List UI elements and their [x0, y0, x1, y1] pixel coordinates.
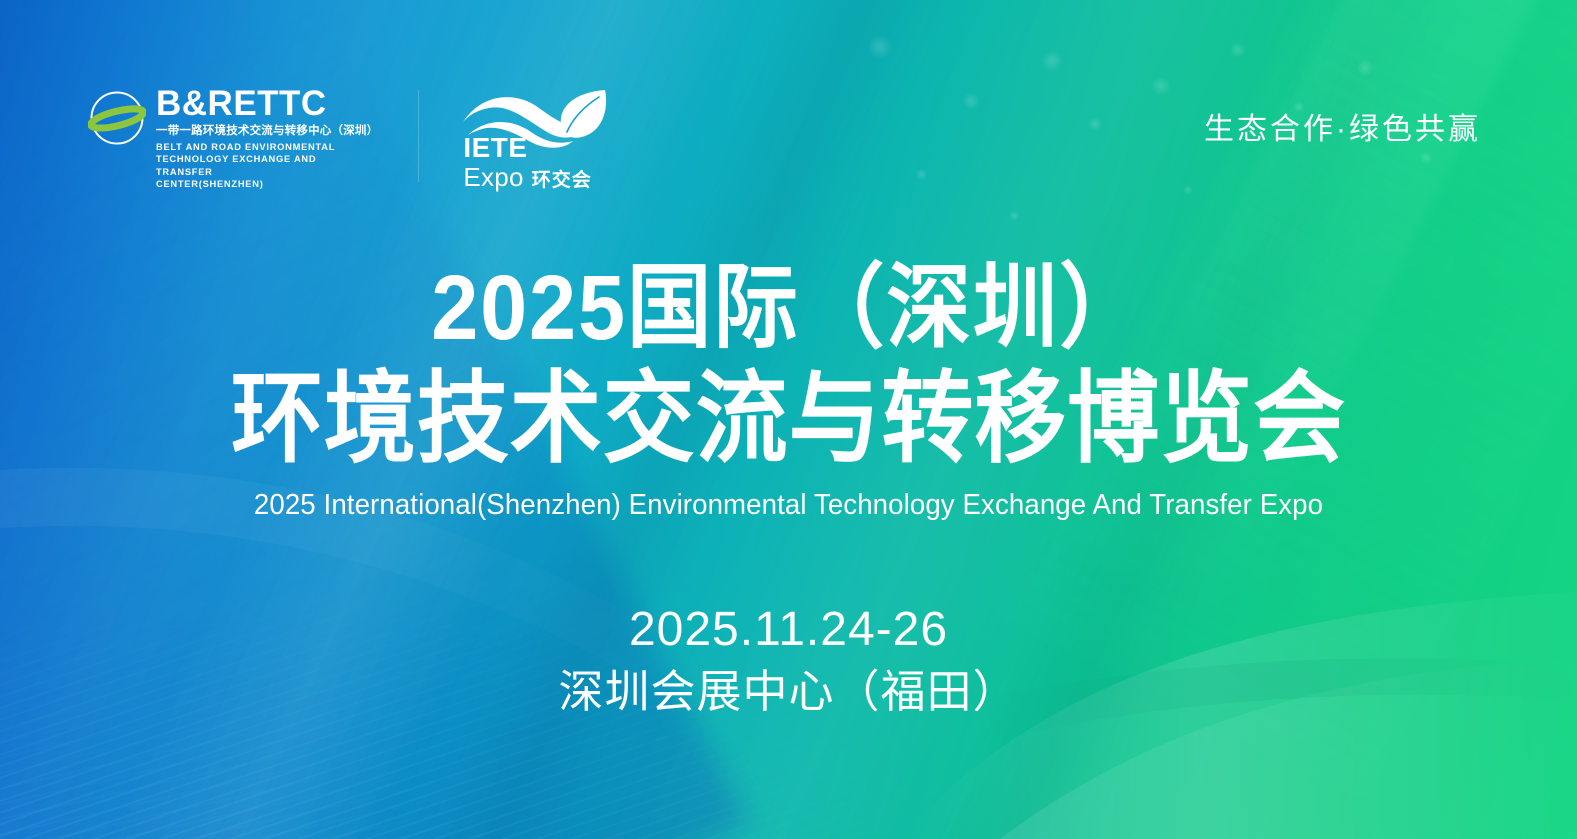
logo-divider	[418, 90, 419, 182]
brettc-english-line-3: CENTER(SHENZHEN)	[156, 179, 264, 189]
subtitle-english: 2025 International(Shenzhen) Environment…	[24, 489, 1554, 522]
brettc-name: B&RETTC	[156, 86, 378, 121]
title-line-2: 环境技术交流与转移博览会	[63, 369, 1514, 469]
event-date: 2025.11.24-26	[0, 602, 1577, 659]
headline-block: 2025国际（深圳） 环境技术交流与转移博览会 2025 Internation…	[0, 262, 1577, 522]
brettc-english-line-1: BELT AND ROAD ENVIRONMENTAL	[156, 142, 335, 152]
globe-icon	[88, 89, 146, 147]
iete-chinese-name: 环交会	[532, 171, 592, 190]
banner-content: B&RETTC 一带一路环境技术交流与转移中心（深圳） BELT AND ROA…	[0, 0, 1577, 839]
brettc-english-line-2: TECHNOLOGY EXCHANGE AND TRANSFER	[156, 154, 316, 177]
event-meta-block: 2025.11.24-26 深圳会展中心（福田）	[0, 602, 1577, 718]
iete-expo-logo[interactable]: IETE Expo 环交会	[459, 86, 609, 186]
iete-expo-word: Expo	[463, 164, 523, 190]
iete-abbr: IETE	[463, 132, 527, 163]
brettc-text-block: B&RETTC 一带一路环境技术交流与转移中心（深圳） BELT AND ROA…	[156, 86, 378, 191]
event-venue: 深圳会展中心（福田）	[0, 665, 1577, 718]
logo-row: B&RETTC 一带一路环境技术交流与转移中心（深圳） BELT AND ROA…	[88, 86, 609, 191]
title-line-1: 2025国际（深圳）	[63, 262, 1514, 354]
brettc-chinese-name: 一带一路环境技术交流与转移中心（深圳）	[156, 124, 378, 140]
event-banner: B&RETTC 一带一路环境技术交流与转移中心（深圳） BELT AND ROA…	[0, 0, 1577, 839]
brettc-logo[interactable]: B&RETTC 一带一路环境技术交流与转移中心（深圳） BELT AND ROA…	[88, 86, 378, 191]
slogan-text: 生态合作·绿色共赢	[1204, 104, 1481, 148]
iete-text-block: IETE Expo 环交会	[463, 134, 591, 190]
